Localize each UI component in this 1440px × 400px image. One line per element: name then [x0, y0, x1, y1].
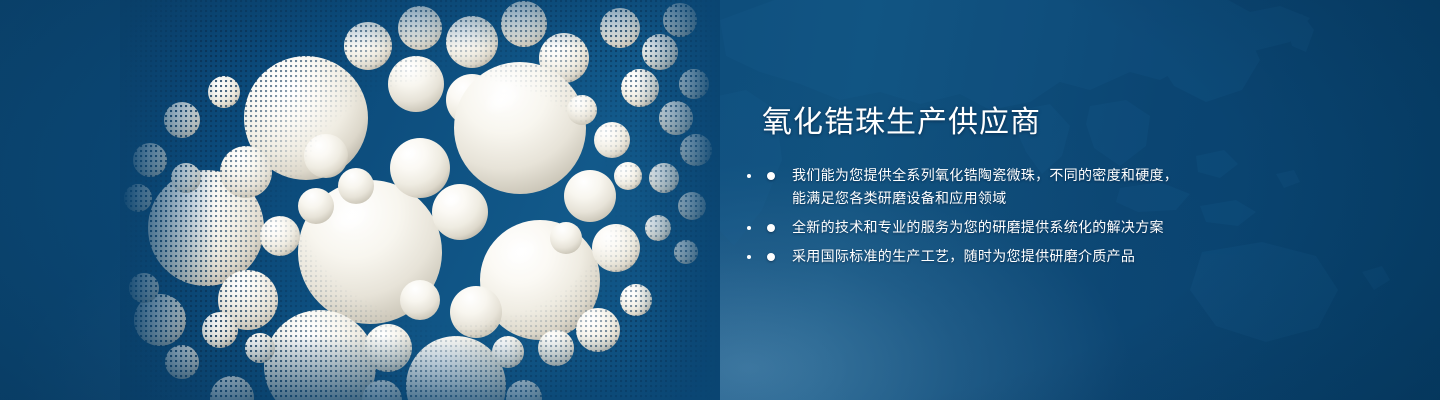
bullet-item: 全新的技术和专业的服务为您的研磨提供系统化的解决方案	[762, 216, 1232, 239]
bullet-dot-icon	[767, 172, 775, 180]
bullet-dot-icon	[767, 224, 775, 232]
bullet-dot-icon	[767, 253, 775, 261]
bullet-item: 采用国际标准的生产工艺，随时为您提供研磨介质产品	[762, 245, 1232, 268]
hero-banner: 氧化锆珠生产供应商 我们能为您提供全系列氧化锆陶瓷微珠，不同的密度和硬度， 能满…	[0, 0, 1440, 400]
banner-headline: 氧化锆珠生产供应商	[762, 104, 1232, 142]
bullet-text-line1: 全新的技术和专业的服务为您的研磨提供系统化的解决方案	[792, 216, 1232, 239]
bullet-text-line2: 能满足您各类研磨设备和应用领域	[792, 187, 1232, 210]
bullet-text-line1: 我们能为您提供全系列氧化锆陶瓷微珠，不同的密度和硬度，	[792, 164, 1232, 187]
banner-bullet-list: 我们能为您提供全系列氧化锆陶瓷微珠，不同的密度和硬度， 能满足您各类研磨设备和应…	[762, 164, 1232, 268]
bullet-item: 我们能为您提供全系列氧化锆陶瓷微珠，不同的密度和硬度， 能满足您各类研磨设备和应…	[762, 164, 1232, 210]
banner-copy: 氧化锆珠生产供应商 我们能为您提供全系列氧化锆陶瓷微珠，不同的密度和硬度， 能满…	[762, 104, 1232, 274]
bullet-text-line1: 采用国际标准的生产工艺，随时为您提供研磨介质产品	[792, 245, 1232, 268]
